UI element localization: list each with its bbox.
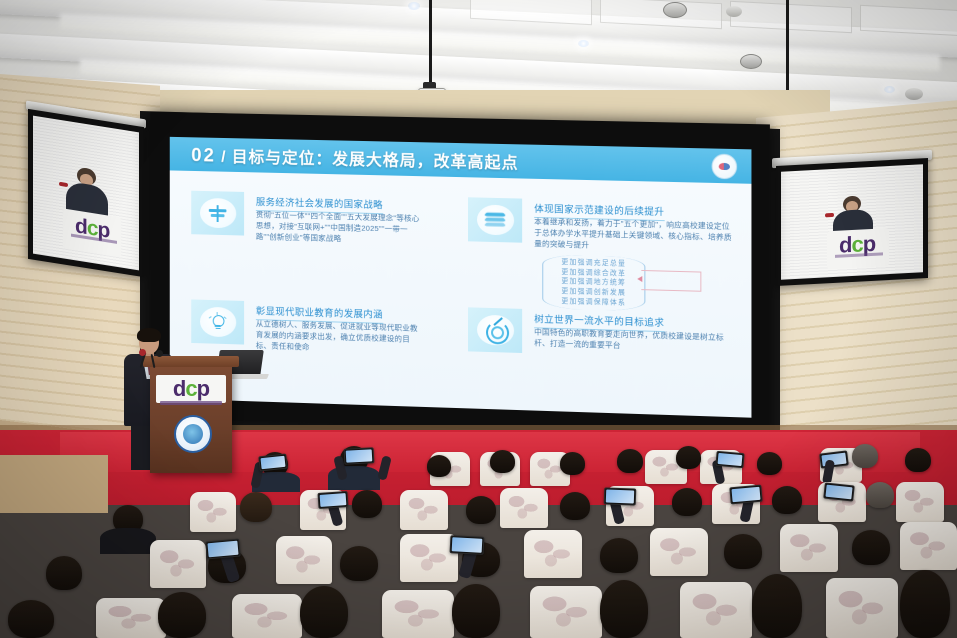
- audience-head: [300, 586, 348, 638]
- audience-head: [724, 534, 762, 569]
- audience-phone[interactable]: [715, 451, 744, 468]
- audience-head: [852, 444, 878, 468]
- audience-head: [600, 538, 638, 573]
- slide-section-number: 02: [191, 145, 216, 166]
- audience-head: [866, 482, 894, 508]
- microphone-head: [139, 349, 146, 356]
- ceiling-spotlight: [905, 88, 923, 100]
- seat: [96, 598, 166, 638]
- layers-icon: [468, 197, 522, 242]
- audience-head: [46, 556, 82, 590]
- audience-phone[interactable]: [344, 447, 375, 465]
- slide-block-1: 服务经济社会发展的国家战略 贯彻"五位一体""四个全面""五大发展理念"等核心思…: [191, 191, 438, 267]
- audience-phone[interactable]: [604, 487, 637, 505]
- audience-shoulders: [100, 528, 156, 554]
- podium-plaque-text: [160, 401, 222, 405]
- audience-head: [560, 452, 585, 475]
- seat: [650, 528, 708, 576]
- audience-head: [772, 486, 802, 514]
- seat: [500, 488, 548, 528]
- audience-head: [8, 600, 54, 638]
- audience-head: [752, 574, 802, 638]
- seat: [530, 586, 602, 638]
- ceiling-spotlight: [663, 2, 687, 18]
- audience-head: [427, 455, 451, 477]
- slide-block-2-bracket-list: 更加强调充足总量 更加强调综合改革 更加强调地方统筹 更加强调创新发展 更加强调…: [542, 254, 645, 311]
- slide-block-2-body: 本着继承和发扬，着力于"五个更加"，响应高校建设定位于总体办学水平提升基础上关键…: [534, 216, 733, 254]
- slide-block-2: 体现国家示范建设的后续提升 本着继承和发扬，着力于"五个更加"，响应高校建设定位…: [468, 197, 741, 315]
- audience-head: [672, 488, 702, 516]
- audience-head: [905, 448, 931, 472]
- signpost-icon: [191, 191, 244, 236]
- podium-top: [143, 356, 239, 367]
- seat: [900, 522, 957, 570]
- slide-block-4: 树立世界一流水平的目标追求 中国特色的高职教育要走向世界，优质校建设是树立标杆、…: [468, 307, 741, 386]
- ceiling-spotlight: [726, 6, 742, 17]
- audience-phone[interactable]: [823, 482, 855, 501]
- slide-block-1-body: 贯彻"五位一体""四个全面""五大发展理念"等核心思想，对接"互联网+""中国制…: [256, 209, 424, 246]
- audience-phone[interactable]: [729, 485, 762, 505]
- slide-block-4-body: 中国特色的高职教育要走向世界，优质校建设是树立标杆、打造一流的重要平台: [534, 326, 733, 354]
- podium: dcp: [150, 363, 232, 473]
- audience-head: [352, 490, 382, 518]
- lightbulb-idea-icon: [191, 299, 244, 344]
- target-arrow-icon: [468, 307, 522, 353]
- seat: [382, 590, 454, 638]
- main-presentation-screen: 02 / 目标与定位：发展大格局，改革高起点 服务经济社会发展的国家战略 贯彻"…: [150, 112, 770, 439]
- connector-arrow-icon: [641, 270, 701, 292]
- audience-head: [490, 450, 515, 473]
- seat: [276, 536, 332, 584]
- institution-seal-icon: [174, 415, 212, 453]
- audience-phone[interactable]: [205, 539, 240, 560]
- audience-head: [240, 492, 272, 522]
- seat: [232, 594, 302, 638]
- slide-title-separator: /: [221, 149, 226, 166]
- audience-head: [158, 592, 206, 638]
- seat: [826, 578, 898, 638]
- seat: [150, 540, 206, 588]
- ceiling-spotlight: [740, 54, 762, 69]
- seat: [680, 582, 752, 638]
- audience-phone[interactable]: [258, 454, 287, 472]
- seat: [524, 530, 582, 578]
- audience-phone[interactable]: [317, 491, 348, 509]
- audience-head: [900, 570, 950, 638]
- audience-head: [676, 446, 701, 469]
- bracket-list-item: 更加强调保障体系: [548, 296, 639, 308]
- seat: [780, 524, 838, 572]
- seat: [896, 482, 944, 522]
- audience-head: [617, 449, 643, 473]
- audience-head: [560, 492, 590, 520]
- audience-head: [600, 580, 648, 638]
- audience-phone[interactable]: [450, 535, 485, 555]
- auditorium-scene: dcp dcp 02 / 目标与定位：发展大格局，改: [0, 0, 957, 638]
- microphone-head: [156, 350, 163, 357]
- stage-side-table: [0, 455, 108, 513]
- audience-head: [852, 530, 890, 565]
- slide-block-3-body: 从立德树人、服务发展、促进就业等现代职业教育发展的内涵要求出发，确立优质校建设的…: [256, 318, 424, 356]
- audience-head: [340, 546, 378, 581]
- school-emblem-icon: [712, 154, 738, 180]
- podium-logo-plaque: dcp: [156, 375, 226, 403]
- seat: [190, 492, 236, 532]
- audience-head: [452, 584, 500, 638]
- seat: [400, 490, 448, 530]
- podium-dcp-logo: dcp: [173, 378, 209, 400]
- audience-head: [466, 496, 496, 524]
- audience-head: [757, 452, 782, 475]
